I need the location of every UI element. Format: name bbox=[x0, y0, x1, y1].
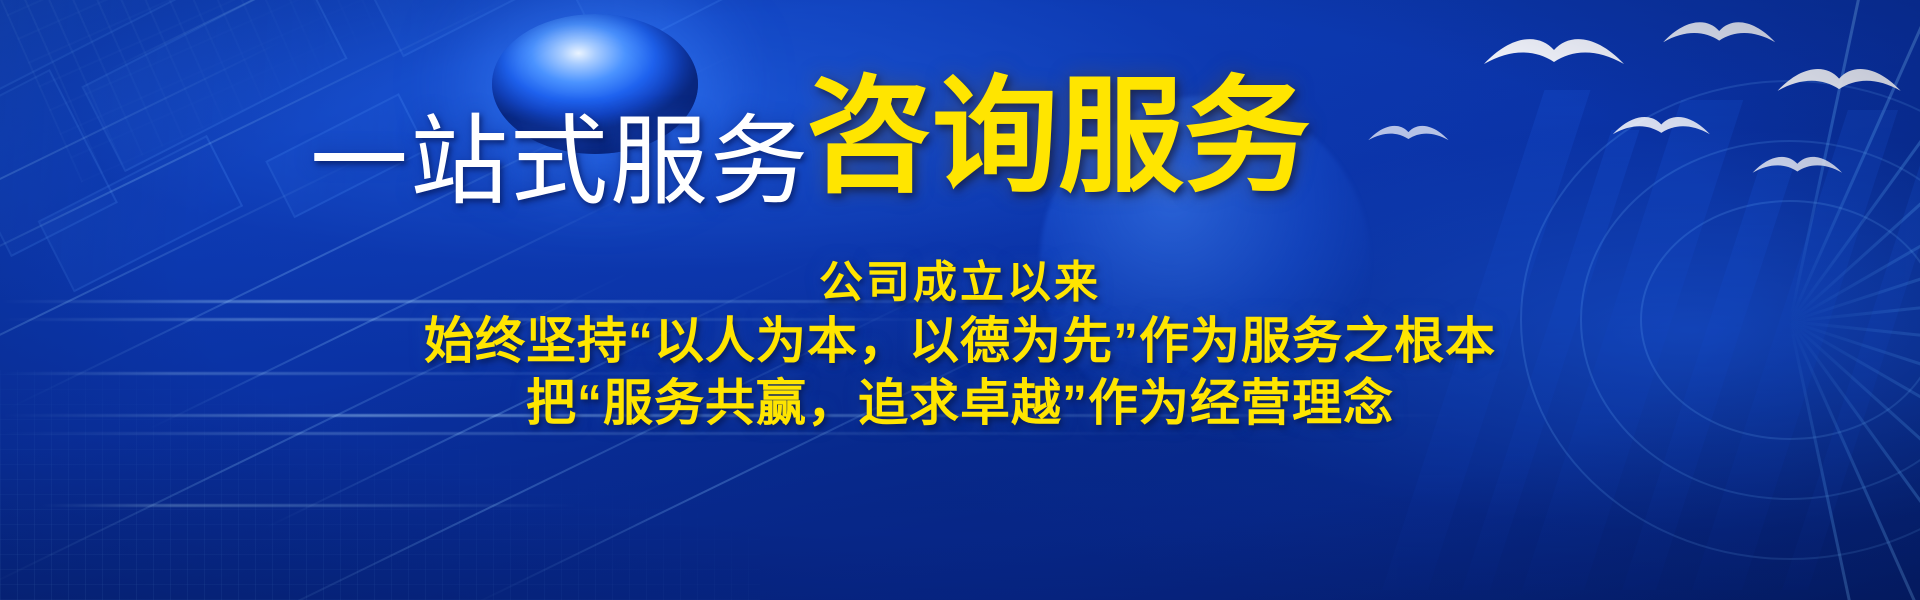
subtitle-group: 公司成立以来 始终坚持“以人为本，以德为先”作为服务之根本 把“服务共赢，追求卓… bbox=[0, 256, 1920, 434]
headline-accent-text: 咨询服务 bbox=[806, 74, 1310, 200]
subtitle-line-1: 公司成立以来 bbox=[0, 256, 1920, 310]
subtitle-line-2: 始终坚持“以人为本，以德为先”作为服务之根本 bbox=[0, 310, 1920, 372]
headline-main-text: 一站式服务 bbox=[310, 112, 810, 210]
headline-group: 一站式服务 咨询服务 bbox=[0, 0, 1920, 250]
light-beam bbox=[40, 504, 580, 507]
subtitle-line-3: 把“服务共赢，追求卓越”作为经营理念 bbox=[0, 372, 1920, 434]
promotional-banner: 一站式服务 咨询服务 公司成立以来 始终坚持“以人为本，以德为先”作为服务之根本… bbox=[0, 0, 1920, 600]
